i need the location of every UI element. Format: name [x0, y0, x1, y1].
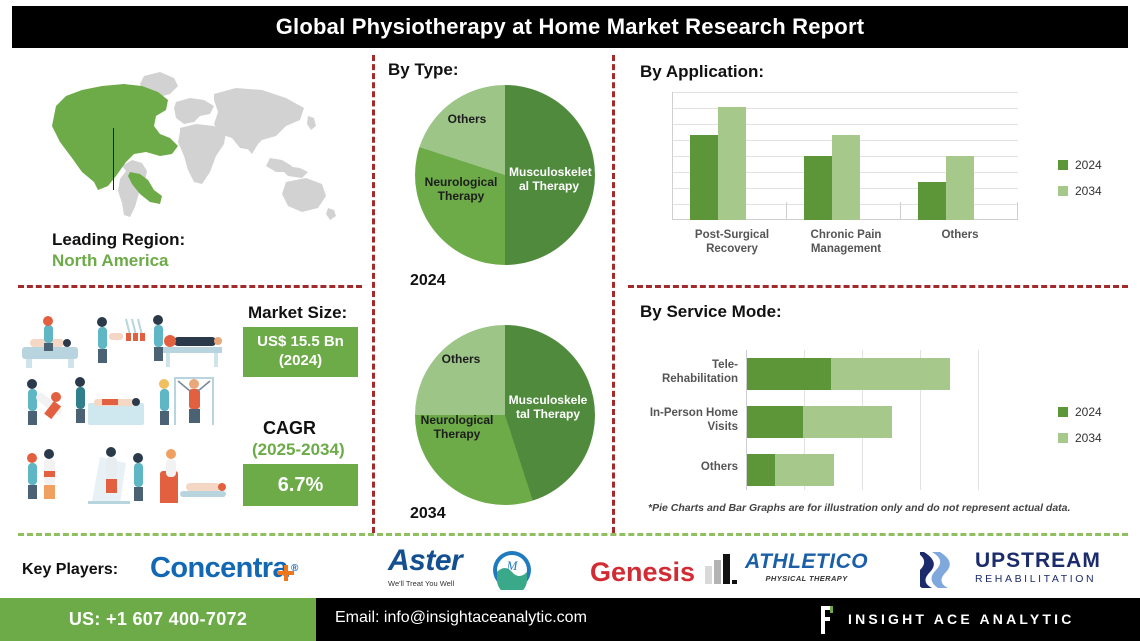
legend-swatch-2024-icon [1058, 407, 1068, 417]
pie-2024-slice-label-neurological: NeurologicalTherapy [418, 176, 504, 204]
sbar-tele-rehab-2034 [831, 358, 950, 390]
svg-text:M: M [506, 558, 519, 573]
by-service-mode-plot [746, 350, 982, 490]
legend-item-2034-sm: 2034 [1058, 431, 1102, 445]
logo-aster-tagline: We'll Treat You Well [388, 579, 454, 588]
pie-2034-slice-label-others: Others [432, 353, 490, 367]
category-label-others-app: Others [904, 228, 1016, 242]
logo-upstream[interactable]: UPSTREAM REHABILITATION [975, 550, 1101, 585]
upstream-wave-icon [920, 548, 968, 597]
pie-2024-slice-label-musculoskeletal: Musculoskeletal Therapy [509, 166, 589, 194]
by-application-legend: 2024 2034 [1058, 158, 1102, 210]
market-size-title: Market Size: [248, 303, 347, 323]
legend-label-2024-sm: 2024 [1075, 405, 1102, 419]
logo-upstream-tagline: REHABILITATION [975, 573, 1096, 585]
service-mode-label-in-person: In-Person HomeVisits [622, 406, 738, 435]
market-size-value-box: US$ 15.5 Bn (2024) [243, 327, 358, 377]
market-size-line1: US$ 15.5 Bn [257, 333, 344, 352]
horizontal-divider-left [18, 285, 362, 288]
cagr-value-box: 6.7% [243, 464, 358, 506]
by-application-plot [672, 92, 1018, 220]
bar-post-surgical-2034 [718, 107, 746, 220]
logo-genesis-text: Genesis [590, 557, 695, 588]
logo-concentra[interactable]: Concentra ® [150, 552, 298, 585]
cagr-title: CAGR [263, 418, 316, 439]
logo-athletico-text: ATHLETICO [745, 551, 868, 572]
map-highlight-north-america [52, 84, 178, 204]
logo-concentra-text: Concentra [150, 552, 288, 585]
legend-label-2024: 2024 [1075, 158, 1102, 172]
footer-bar: US: +1 607 400-7072 Email: info@insighta… [0, 598, 1140, 641]
footer-email[interactable]: Email: info@insightaceanalytic.com [335, 609, 587, 627]
report-header: Global Physiotherapy at Home Market Rese… [12, 6, 1128, 48]
physiotherapy-illustrations [14, 305, 234, 525]
footer-phone-block: US: +1 607 400-7072 [0, 598, 316, 641]
legend-item-2024: 2024 [1058, 158, 1102, 172]
bar-chronic-pain-2024 [804, 156, 832, 220]
footer-phone[interactable]: US: +1 607 400-7072 [69, 609, 247, 630]
insight-ace-logo-icon [818, 606, 834, 634]
map-leader-line [113, 128, 114, 190]
legend-label-2034-sm: 2034 [1075, 431, 1102, 445]
physiotherapy-illustration-svg [14, 305, 234, 525]
pie-2034-year: 2034 [410, 505, 446, 523]
legend-swatch-2034-icon [1058, 186, 1068, 196]
pie-2034-slice-label-musculoskeletal: Musculoskeletal Therapy [508, 394, 588, 422]
footer-brand: INSIGHT ACE ANALYTIC [848, 611, 1075, 627]
charts-footnote: *Pie Charts and Bar Graphs are for illus… [648, 502, 1070, 514]
bar-chronic-pain-2034 [832, 135, 860, 220]
cagr-range: (2025-2034) [252, 440, 345, 460]
category-label-post-surgical: Post-SurgicalRecovery [676, 228, 788, 257]
genesis-bars-icon [705, 554, 739, 591]
sbar-in-person-2024 [747, 406, 803, 438]
key-players-label: Key Players: [22, 561, 118, 579]
pie-2024-slice-label-others: Others [438, 113, 496, 127]
vertical-divider-right [612, 55, 615, 533]
sbar-tele-rehab-2024 [747, 358, 831, 390]
by-application-title: By Application: [640, 62, 764, 82]
sbar-others-2024 [747, 454, 775, 486]
logo-genesis[interactable]: Genesis [590, 554, 739, 591]
page-title: Global Physiotherapy at Home Market Rese… [276, 14, 864, 40]
leading-region-label: Leading Region: [52, 230, 185, 250]
service-mode-label-others: Others [630, 460, 738, 474]
leading-region-value: North America [52, 250, 185, 271]
by-service-mode-title: By Service Mode: [640, 302, 782, 322]
logo-athletico[interactable]: ATHLETICO PHYSICAL THERAPY [745, 551, 868, 583]
legend-swatch-2024-icon [1058, 160, 1068, 170]
by-service-mode-legend: 2024 2034 [1058, 405, 1102, 457]
legend-swatch-2034-icon [1058, 433, 1068, 443]
logo-athletico-tagline: PHYSICAL THERAPY [766, 574, 848, 583]
by-type-title: By Type: [388, 60, 459, 80]
market-size-line2: (2024) [279, 352, 322, 371]
world-map-svg [18, 62, 348, 237]
pie-2024-year: 2024 [410, 272, 446, 290]
infographic-page: Global Physiotherapy at Home Market Rese… [0, 0, 1140, 641]
concentra-plus-icon [278, 556, 294, 572]
bar-others-2024 [918, 182, 946, 220]
legend-item-2034: 2034 [1058, 184, 1102, 198]
legend-item-2024-sm: 2024 [1058, 405, 1102, 419]
service-mode-label-tele-rehabilitation: Tele-Rehabilitation [630, 358, 738, 387]
bar-others-2034 [946, 156, 974, 220]
bar-post-surgical-2024 [690, 135, 718, 220]
vertical-divider-left [372, 55, 375, 533]
category-label-chronic-pain: Chronic PainManagement [790, 228, 902, 257]
leading-region-block: Leading Region: North America [52, 230, 185, 271]
logo-upstream-text: UPSTREAM [975, 550, 1101, 571]
pie-2034-slice-label-neurological: NeurologicalTherapy [414, 414, 500, 442]
aster-emblem-icon: M [492, 550, 532, 595]
sbar-in-person-2034 [803, 406, 892, 438]
horizontal-divider-right [628, 285, 1128, 288]
logo-aster[interactable]: Aster We'll Treat You Well [388, 546, 462, 588]
world-map [18, 62, 348, 237]
logo-aster-text: Aster [388, 546, 462, 576]
sbar-others-2034 [775, 454, 834, 486]
cagr-value: 6.7% [278, 473, 324, 498]
legend-label-2034: 2034 [1075, 184, 1102, 198]
